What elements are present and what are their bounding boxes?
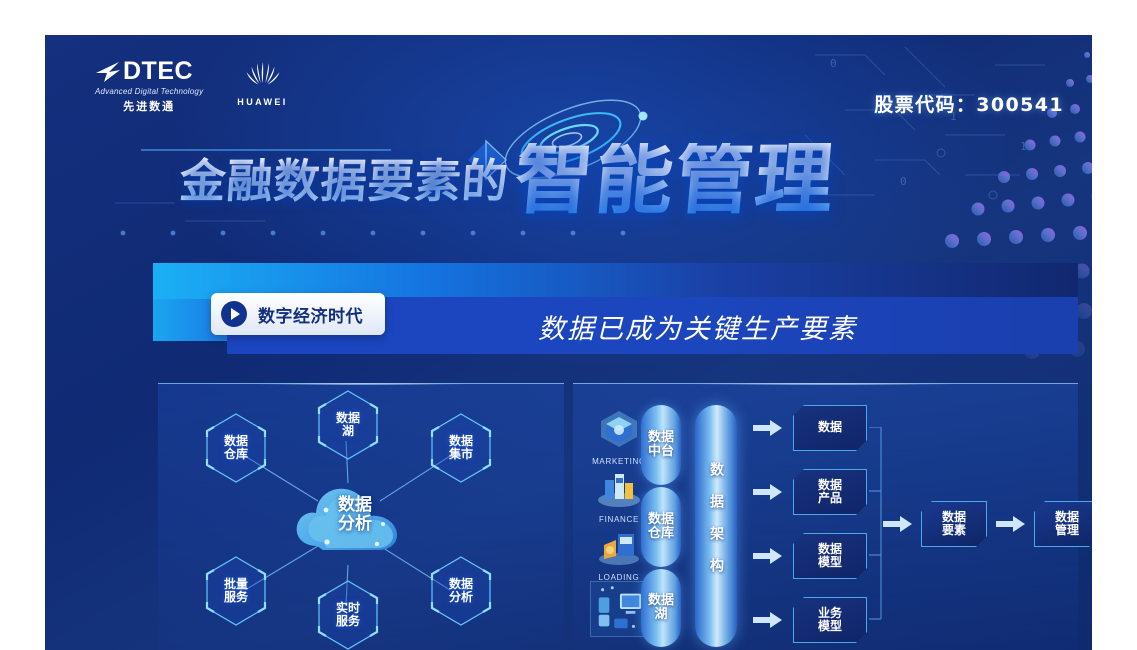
output-line1: 业务 xyxy=(818,606,842,620)
final-line2: 管理 xyxy=(1055,523,1079,537)
capsule-line2: 仓库 xyxy=(648,526,674,541)
cloud-label-line2: 分析 xyxy=(338,514,372,534)
output-line2: 模型 xyxy=(818,619,842,633)
final-box-data-element[interactable]: 数据要素 xyxy=(921,501,987,547)
hex-label-line1: 数据 xyxy=(336,411,360,425)
hex-label-line2: 分析 xyxy=(449,590,473,604)
panel-top-glow xyxy=(699,383,952,385)
arrow-icon xyxy=(753,610,783,630)
source-loading[interactable]: LOADING xyxy=(592,523,646,582)
hex-label-line1: 实时 xyxy=(336,601,360,615)
slide-canvas: 01 01 xyxy=(45,35,1092,650)
output-box-data-model[interactable]: 数据模型 xyxy=(793,533,867,579)
source-marketing[interactable]: MARKETING xyxy=(592,407,646,466)
source-finance[interactable]: FINANCE xyxy=(592,465,646,524)
output-line1: 数据 xyxy=(818,420,842,434)
output-box-business-model[interactable]: 业务模型 xyxy=(793,597,867,643)
capsule-data-architecture[interactable]: 数据架构 xyxy=(695,405,737,647)
final-line2: 要素 xyxy=(942,523,966,537)
hex-label-line1: 数据 xyxy=(449,577,473,591)
cloud-label-line1: 数据 xyxy=(338,495,372,515)
hex-label-line2: 湖 xyxy=(342,424,354,438)
hex-node-batch-service[interactable]: 批量服务 xyxy=(205,556,267,626)
hex-label-line2: 集市 xyxy=(449,447,473,461)
hex-label-line2: 服务 xyxy=(336,614,360,628)
cloud-center-label: 数据 分析 xyxy=(307,496,403,533)
output-line1: 数据 xyxy=(818,478,842,492)
hex-node-data-lake[interactable]: 数据湖 xyxy=(317,390,379,460)
arrow-icon xyxy=(883,514,913,534)
boxes-icon xyxy=(592,523,646,567)
arrow-icon xyxy=(996,514,1026,534)
output-box-data-product[interactable]: 数据产品 xyxy=(793,469,867,515)
capsule-data-warehouse[interactable]: 数据仓库 xyxy=(641,487,681,567)
arrow-icon xyxy=(753,546,783,566)
hex-label-line1: 数据 xyxy=(224,434,248,448)
capsule-data-lake[interactable]: 数据湖 xyxy=(641,569,681,647)
server-monitor-icon xyxy=(590,581,648,637)
hex-label-line2: 仓库 xyxy=(224,447,248,461)
final-line1: 数据 xyxy=(1055,510,1079,524)
capsule-data-midplatform[interactable]: 数据中台 xyxy=(641,405,681,485)
final-box-data-management[interactable]: 数据管理 xyxy=(1034,501,1092,547)
output-box-data[interactable]: 数据 xyxy=(793,405,867,451)
output-line2: 模型 xyxy=(818,555,842,569)
hex-label-line1: 批量 xyxy=(224,577,248,591)
output-line2: 产品 xyxy=(818,491,842,505)
source-server-monitor[interactable] xyxy=(590,581,644,643)
cube-icon xyxy=(592,407,646,451)
arrow-icon xyxy=(753,418,783,438)
architecture-label: 数据架构 xyxy=(706,462,726,590)
final-line1: 数据 xyxy=(942,510,966,524)
arrow-icon xyxy=(753,482,783,502)
hex-node-realtime-service[interactable]: 实时服务 xyxy=(317,580,379,650)
building-chart-icon xyxy=(592,465,646,509)
hex-node-data-warehouse[interactable]: 数据仓库 xyxy=(205,413,267,483)
hex-label-line1: 数据 xyxy=(449,434,473,448)
hex-node-data-analysis[interactable]: 数据分析 xyxy=(430,556,492,626)
output-line1: 数据 xyxy=(818,542,842,556)
hex-node-data-mart[interactable]: 数据集市 xyxy=(430,413,492,483)
capsule-line2: 湖 xyxy=(654,607,667,622)
hex-label-line2: 服务 xyxy=(224,590,248,604)
capsule-line2: 中台 xyxy=(648,444,674,459)
